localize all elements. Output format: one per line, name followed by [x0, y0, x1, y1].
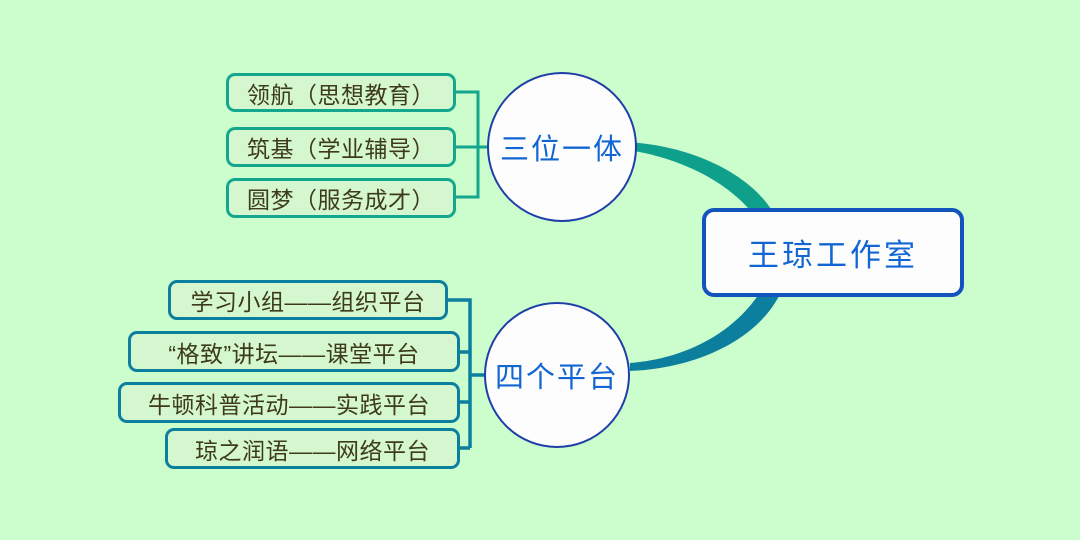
bracket-three-in-one	[456, 92, 489, 197]
leaf-box-four-platforms-1[interactable]: 学习小组——组织平台	[168, 280, 448, 320]
leaf-box-three-in-one-2[interactable]: 筑基（学业辅导）	[226, 127, 456, 167]
bracket-four-platforms	[448, 300, 487, 448]
leaf-box-four-platforms-3[interactable]: 牛顿科普活动——实践平台	[118, 382, 460, 423]
leaf-box-four-platforms-2[interactable]: “格致”讲坛——课堂平台	[128, 331, 460, 372]
leaf-box-three-in-one-1[interactable]: 领航（思想教育）	[226, 73, 456, 112]
mindmap-canvas: 领航（思想教育） 筑基（学业辅导） 圆梦（服务成才） 学习小组——组织平台 “格…	[0, 0, 1080, 540]
curve-four-platforms-to-root	[630, 289, 779, 371]
hub-circle-three-in-one[interactable]: 三位一体	[487, 72, 637, 222]
leaf-box-three-in-one-3[interactable]: 圆梦（服务成才）	[226, 178, 456, 218]
leaf-box-four-platforms-4[interactable]: 琼之润语——网络平台	[165, 428, 460, 469]
hub-circle-four-platforms[interactable]: 四个平台	[484, 302, 630, 448]
root-node-studio[interactable]: 王琼工作室	[702, 208, 964, 297]
